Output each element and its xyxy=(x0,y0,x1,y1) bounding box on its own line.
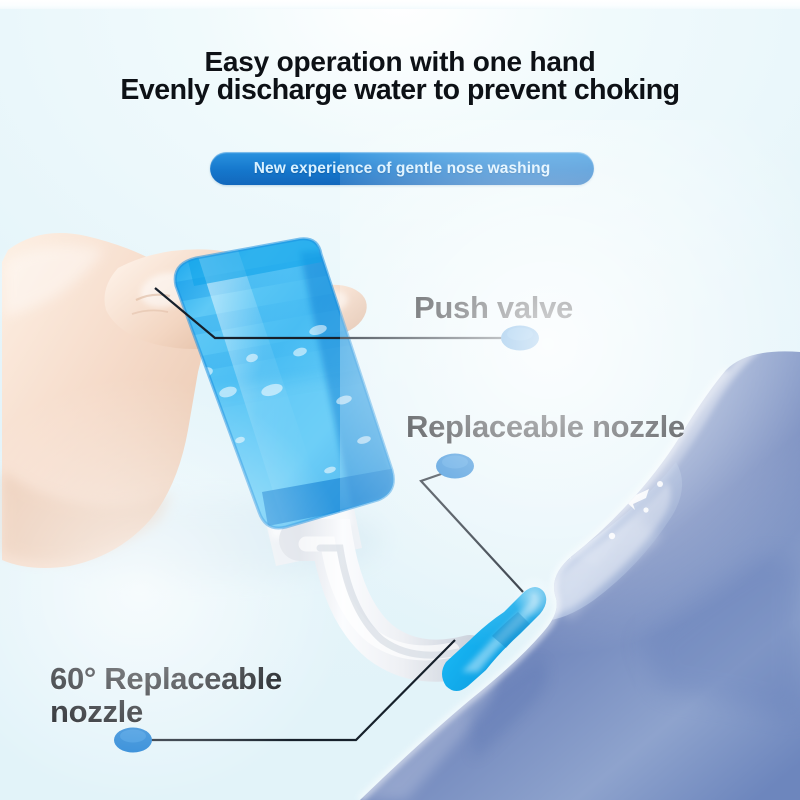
headline: Easy operation with one hand Evenly disc… xyxy=(0,48,800,104)
nozzle-contact-glow xyxy=(512,574,556,618)
headline-line-1: Easy operation with one hand xyxy=(0,48,800,76)
tagline-badge-label: New experience of gentle nose washing xyxy=(254,160,551,178)
callout-label-replaceable-nozzle: Replaceable nozzle xyxy=(406,410,685,443)
callout-label-push-valve: Push valve xyxy=(414,291,573,324)
tagline-badge: New experience of gentle nose washing xyxy=(210,152,594,185)
callout-label-sixty-degree-nozzle: 60° Replaceable nozzle xyxy=(50,662,282,728)
infographic-canvas: Easy operation with one hand Evenly disc… xyxy=(0,0,800,800)
headline-line-2: Evenly discharge water to prevent chokin… xyxy=(0,76,800,104)
